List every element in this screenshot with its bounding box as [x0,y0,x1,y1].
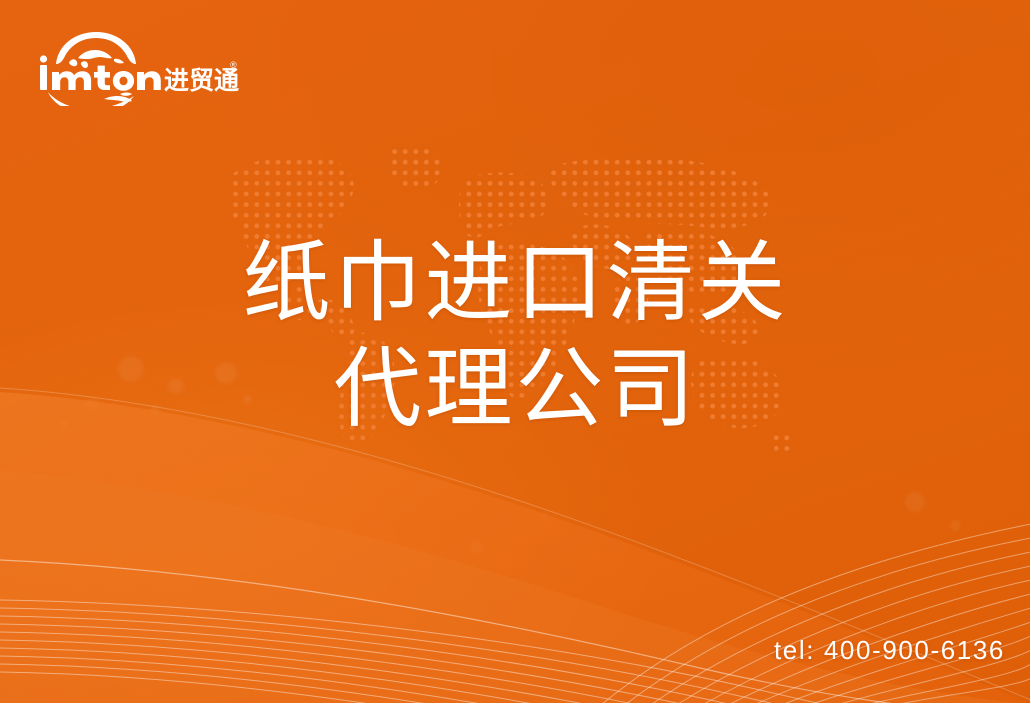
svg-text:进贸通: 进贸通 [164,66,239,95]
phone-number[interactable]: tel: 400-900-6136 [774,635,1005,666]
brand-logo[interactable]: 进贸通 ® [34,28,239,106]
headline: 纸巾进口清关 代理公司 [0,230,1031,442]
svg-text:®: ® [230,60,237,70]
promotional-banner: 进贸通 ® 纸巾进口清关 代理公司 tel: 400-900-6136 [0,0,1031,704]
logo-mark-icon: 进贸通 ® [34,28,239,106]
headline-line-1: 纸巾进口清关 [0,230,1031,336]
headline-line-2: 代理公司 [0,336,1031,442]
